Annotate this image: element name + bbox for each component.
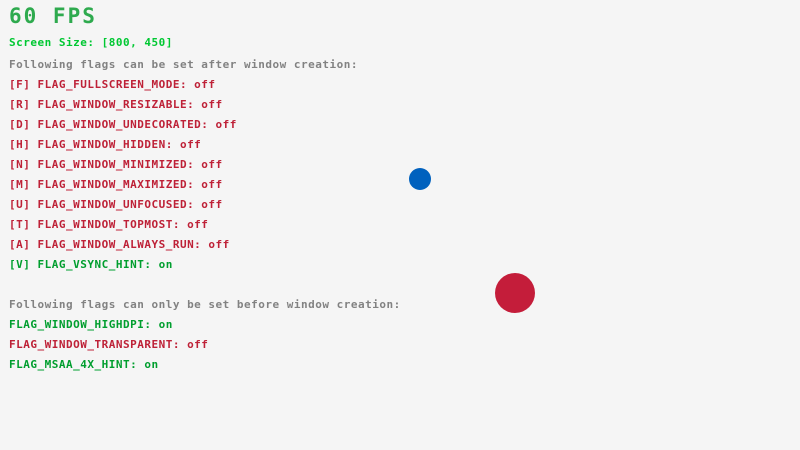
flag-static-flag-msaa-4x-hint[interactable]: FLAG_MSAA_4X_HINT: on: [9, 359, 159, 370]
flag-static-flag-window-transparent[interactable]: FLAG_WINDOW_TRANSPARENT: off: [9, 339, 208, 350]
flag-toggle-flag-window-undecorated[interactable]: [D] FLAG_WINDOW_UNDECORATED: off: [9, 119, 237, 130]
flag-toggle-flag-window-resizable[interactable]: [R] FLAG_WINDOW_RESIZABLE: off: [9, 99, 223, 110]
flag-toggle-flag-fullscreen-mode[interactable]: [F] FLAG_FULLSCREEN_MODE: off: [9, 79, 216, 90]
flag-toggle-flag-window-always-run[interactable]: [A] FLAG_WINDOW_ALWAYS_RUN: off: [9, 239, 230, 250]
flag-toggle-flag-vsync-hint[interactable]: [V] FLAG_VSYNC_HINT: on: [9, 259, 173, 270]
fps-counter: 60 FPS: [9, 6, 97, 27]
ball-large-circle: [495, 273, 535, 313]
flag-toggle-flag-window-unfocused[interactable]: [U] FLAG_WINDOW_UNFOCUSED: off: [9, 199, 223, 210]
raylib-window-canvas: 60 FPS Screen Size: [800, 450] Following…: [0, 0, 800, 450]
flag-toggle-flag-window-maximized[interactable]: [M] FLAG_WINDOW_MAXIMIZED: off: [9, 179, 223, 190]
screen-size-label: Screen Size: [800, 450]: [9, 37, 173, 48]
flag-toggle-flag-window-hidden[interactable]: [H] FLAG_WINDOW_HIDDEN: off: [9, 139, 201, 150]
flag-static-flag-window-highdpi[interactable]: FLAG_WINDOW_HIGHDPI: on: [9, 319, 173, 330]
flag-toggle-flag-window-minimized[interactable]: [N] FLAG_WINDOW_MINIMIZED: off: [9, 159, 223, 170]
section-heading-after-creation: Following flags can be set after window …: [9, 59, 358, 70]
section-heading-before-creation: Following flags can only be set before w…: [9, 299, 401, 310]
ball-small-circle: [409, 168, 431, 190]
flag-toggle-flag-window-topmost[interactable]: [T] FLAG_WINDOW_TOPMOST: off: [9, 219, 208, 230]
